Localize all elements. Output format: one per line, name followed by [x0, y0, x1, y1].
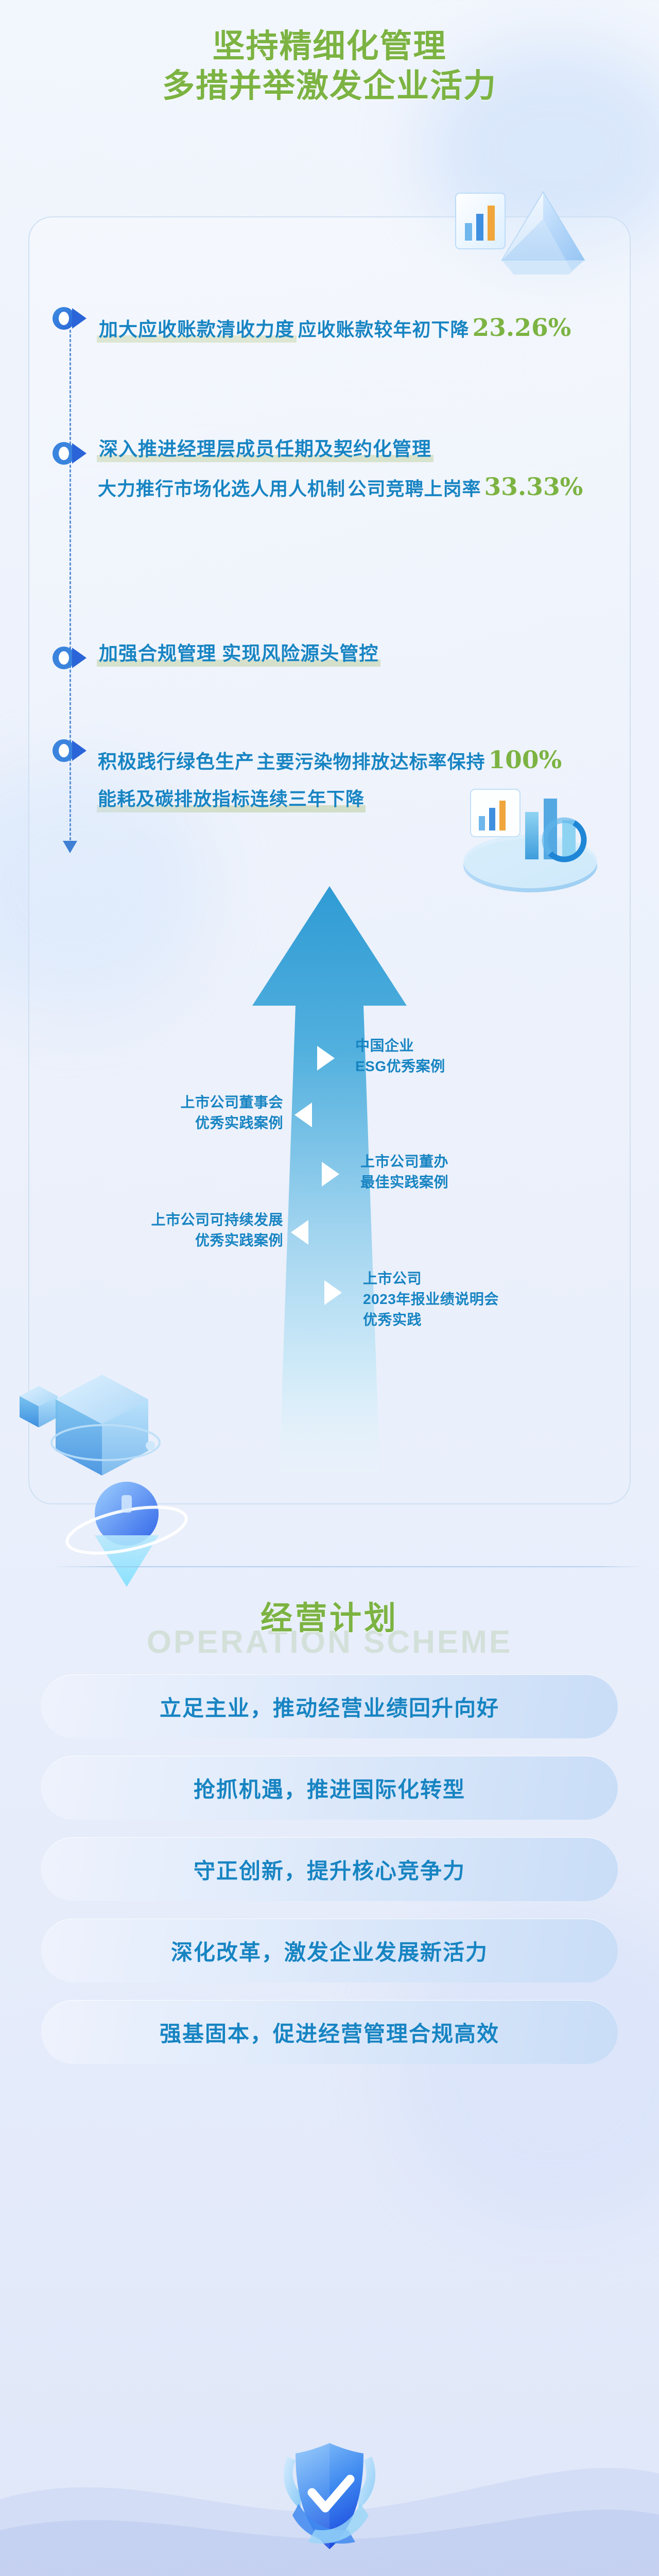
- shield-check-icon: [278, 2432, 381, 2566]
- plan-item[interactable]: 守正创新，提升核心竞争力: [41, 1837, 618, 1901]
- achievement-subline: 大力推行市场化选人用人机制: [98, 477, 345, 501]
- award-marker-triangle: [322, 1162, 339, 1187]
- achievement-subline: 公司竞聘上岗率33.33%: [348, 471, 583, 503]
- award-label: 上市公司董办 最佳实践案例: [360, 1151, 448, 1193]
- achievement-item: 深入推进经理层成员任期及契约化管理 大力推行市场化选人用人机制 公司竞聘上岗率3…: [51, 437, 659, 503]
- section-heading: OPERATION SCHEME 经营计划: [0, 1556, 659, 1674]
- award-marker-triangle: [291, 1220, 308, 1245]
- achievement-headline: 积极践行绿色生产: [98, 750, 254, 774]
- award-marker-triangle: [294, 1103, 312, 1127]
- operation-scheme-section: OPERATION SCHEME 经营计划 立足主业，推动经营业绩回升向好 抢抓…: [0, 1556, 659, 2081]
- target-arrow-icon: [51, 643, 89, 672]
- section-heading-cn: 经营计划: [0, 1592, 659, 1638]
- target-arrow-icon: [51, 439, 89, 468]
- award-label: 上市公司可持续发展 优秀实践案例: [10, 1210, 283, 1251]
- achievement-subline: 应收账款较年初下降23.26%: [298, 312, 571, 344]
- plan-item[interactable]: 抢抓机遇，推进国际化转型: [41, 1756, 618, 1820]
- plan-item-label: 守正创新，提升核心竞争力: [194, 1854, 465, 1885]
- plan-item-label: 抢抓机遇，推进国际化转型: [194, 1772, 465, 1804]
- achievement-metric: 23.26%: [472, 314, 571, 342]
- achievement-headline: 深入推进经理层成员任期及契约化管理: [98, 437, 432, 461]
- achievement-metric: 33.33%: [484, 473, 583, 501]
- plan-item[interactable]: 立足主业，推动经营业绩回升向好: [41, 1674, 618, 1738]
- achievement-headline: 加大应收账款清收力度: [98, 317, 296, 342]
- award-label: 上市公司董事会 优秀实践案例: [88, 1092, 283, 1133]
- plan-item-label: 强基固本，促进经营管理合规高效: [160, 2016, 499, 2048]
- plan-item[interactable]: 深化改革，激发企业发展新活力: [41, 1919, 618, 1982]
- award-marker-triangle: [324, 1280, 342, 1305]
- award-marker-triangle: [317, 1046, 335, 1071]
- achievement-metric: 100%: [488, 746, 562, 774]
- achievement-subline: 能耗及碳排放指标连续三年下降: [98, 787, 365, 811]
- award-label: 中国企业 ESG优秀案例: [355, 1036, 445, 1077]
- page-title-line-2: 多措并举激发企业活力: [0, 66, 659, 106]
- award-label: 上市公司 2023年报业绩说明会 优秀实践: [363, 1268, 499, 1330]
- achievement-item: 加大应收账款清收力度 应收账款较年初下降23.26%: [51, 302, 571, 344]
- achievement-headline: 加强合规管理 实现风险源头管控: [98, 641, 379, 666]
- achievement-item: 积极践行绿色生产 主要污染物排放达标率保持100% 能耗及碳排放指标连续三年下降: [51, 734, 659, 811]
- target-arrow-icon: [51, 304, 89, 333]
- target-arrow-icon: [51, 736, 89, 765]
- down-arrow-icon: [63, 841, 77, 853]
- plan-item[interactable]: 强基固本，促进经营管理合规高效: [41, 2000, 618, 2064]
- achievement-subline: 主要污染物排放达标率保持100%: [256, 744, 562, 776]
- plan-item-label: 立足主业，推动经营业绩回升向好: [160, 1691, 499, 1722]
- page-title-line-1: 坚持精细化管理: [0, 27, 659, 66]
- page-title-block: 坚持精细化管理 多措并举激发企业活力: [0, 27, 659, 106]
- achievement-item: 加强合规管理 实现风险源头管控: [51, 641, 379, 666]
- plan-item-label: 深化改革，激发企业发展新活力: [171, 1935, 488, 1967]
